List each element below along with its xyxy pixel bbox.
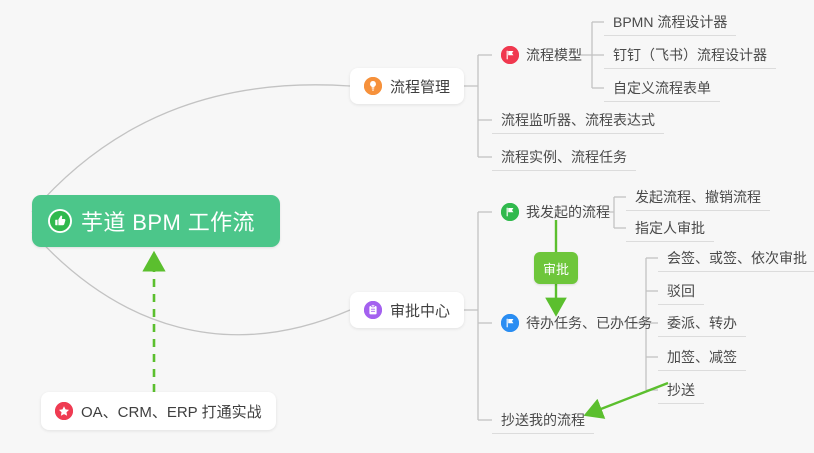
thumbs-up-icon <box>48 209 72 233</box>
root-node[interactable]: 芋道 BPM 工作流 <box>32 195 280 247</box>
leaf-custom-process-form-label: 自定义流程表单 <box>613 78 711 98</box>
leaf-reject[interactable]: 驳回 <box>658 277 704 305</box>
node-todo-done-tasks[interactable]: 待办任务、已办任务 <box>492 309 661 337</box>
branch-approval-center-label: 审批中心 <box>390 300 450 321</box>
flag-icon-green <box>501 203 519 221</box>
leaf-countersign[interactable]: 会签、或签、依次审批 <box>658 244 814 272</box>
leaf-cc[interactable]: 抄送 <box>658 376 704 404</box>
approval-tag-label: 审批 <box>543 259 569 278</box>
leaf-designated-approver[interactable]: 指定人审批 <box>626 214 714 242</box>
root-label: 芋道 BPM 工作流 <box>81 205 255 237</box>
leaf-delegate-transfer[interactable]: 委派、转办 <box>658 309 746 337</box>
approval-tag: 审批 <box>534 252 578 284</box>
leaf-custom-process-form[interactable]: 自定义流程表单 <box>604 74 720 102</box>
leaf-add-remove-sign-label: 加签、减签 <box>667 347 737 367</box>
leaf-process-listener-expression[interactable]: 流程监听器、流程表达式 <box>492 106 664 134</box>
leaf-cc-label: 抄送 <box>667 380 695 400</box>
node-todo-done-tasks-label: 待办任务、已办任务 <box>526 313 652 333</box>
leaf-designated-approver-label: 指定人审批 <box>635 218 705 238</box>
branch-process-management-label: 流程管理 <box>390 76 450 97</box>
leaf-process-instance-task[interactable]: 流程实例、流程任务 <box>492 143 636 171</box>
leaf-add-remove-sign[interactable]: 加签、减签 <box>658 343 746 371</box>
mindmap-canvas: 待办任务 : vertical green arrow --> 抄送我的流程 :… <box>0 0 814 453</box>
node-process-model-label: 流程模型 <box>526 45 582 65</box>
node-my-initiated-processes[interactable]: 我发起的流程 <box>492 198 619 226</box>
leaf-start-cancel-process-label: 发起流程、撤销流程 <box>635 187 761 207</box>
leaf-bpmn-designer-label: BPMN 流程设计器 <box>613 12 727 32</box>
flag-icon-blue <box>501 314 519 332</box>
lightbulb-pin-icon <box>364 77 382 95</box>
leaf-cc-to-me-processes[interactable]: 抄送我的流程 <box>492 406 594 434</box>
note-label: OA、CRM、ERP 打通实战 <box>81 401 262 422</box>
node-my-initiated-processes-label: 我发起的流程 <box>526 202 610 222</box>
leaf-reject-label: 驳回 <box>667 281 695 301</box>
leaf-cc-to-me-processes-label: 抄送我的流程 <box>501 410 585 430</box>
leaf-process-instance-task-label: 流程实例、流程任务 <box>501 147 627 167</box>
cc-flow-arrow <box>588 383 668 414</box>
clipboard-icon <box>364 301 382 319</box>
note-node[interactable]: OA、CRM、ERP 打通实战 <box>41 392 276 430</box>
leaf-dingtalk-feishu-designer-label: 钉钉（飞书）流程设计器 <box>613 45 767 65</box>
leaf-delegate-transfer-label: 委派、转办 <box>667 313 737 333</box>
branch-process-management[interactable]: 流程管理 <box>350 68 464 104</box>
flag-icon-red <box>501 46 519 64</box>
star-icon <box>55 402 73 420</box>
leaf-bpmn-designer[interactable]: BPMN 流程设计器 <box>604 8 736 36</box>
leaf-dingtalk-feishu-designer[interactable]: 钉钉（飞书）流程设计器 <box>604 41 776 69</box>
leaf-countersign-label: 会签、或签、依次审批 <box>667 248 807 268</box>
leaf-process-listener-expression-label: 流程监听器、流程表达式 <box>501 110 655 130</box>
node-process-model[interactable]: 流程模型 <box>492 41 591 69</box>
leaf-start-cancel-process[interactable]: 发起流程、撤销流程 <box>626 183 770 211</box>
branch-approval-center[interactable]: 审批中心 <box>350 292 464 328</box>
